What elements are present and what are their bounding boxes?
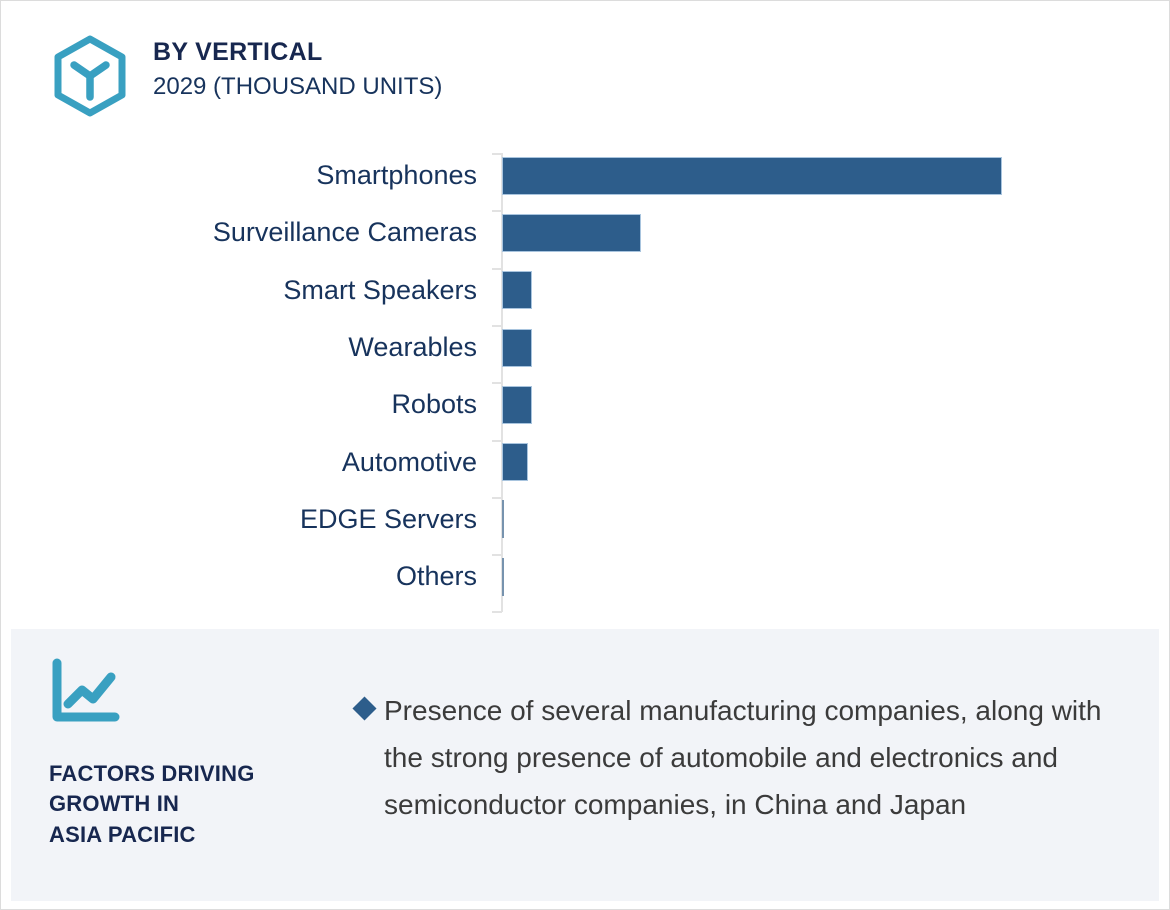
chart-bar[interactable]	[502, 558, 504, 596]
chart-category-label: Smart Speakers	[57, 275, 477, 306]
chart-axis-tick	[492, 554, 502, 556]
chart-bar-fill	[502, 329, 532, 367]
chart-bar-fill	[502, 558, 504, 596]
chart-category-label: Others	[57, 561, 477, 592]
chart-bar[interactable]	[502, 157, 1002, 195]
chart-bar[interactable]	[502, 214, 641, 252]
chart-category-label: Automotive	[57, 447, 477, 478]
chart-axis-tick	[492, 497, 502, 499]
page-subtitle: 2029 (THOUSAND UNITS)	[153, 71, 442, 102]
chart-bar[interactable]	[502, 443, 528, 481]
hexagon-y-icon	[51, 35, 129, 117]
chart-bar-fill	[502, 500, 504, 538]
chart-bar-row: EDGE Servers	[1, 491, 1170, 548]
chart-bar[interactable]	[502, 386, 532, 424]
chart-category-label: Robots	[57, 389, 477, 420]
chart-bar-row: Surveillance Cameras	[1, 204, 1170, 261]
header: BY VERTICAL 2029 (THOUSAND UNITS)	[51, 34, 442, 117]
chart-bar[interactable]	[502, 329, 532, 367]
chart-category-label: Wearables	[57, 332, 477, 363]
factors-block: FACTORS DRIVING GROWTH IN ASIA PACIFIC	[49, 657, 339, 850]
header-text: BY VERTICAL 2029 (THOUSAND UNITS)	[153, 38, 442, 102]
factors-panel: FACTORS DRIVING GROWTH IN ASIA PACIFIC P…	[11, 629, 1159, 901]
chart-axis-tick	[492, 382, 502, 384]
chart-category-label: Surveillance Cameras	[57, 217, 477, 248]
page-title: BY VERTICAL	[153, 38, 442, 67]
factors-heading: FACTORS DRIVING GROWTH IN ASIA PACIFIC	[49, 759, 339, 850]
chart-bar-row: Smart Speakers	[1, 262, 1170, 319]
chart-category-label: EDGE Servers	[57, 504, 477, 535]
chart-axis-tick	[492, 210, 502, 212]
chart-bar-row: Smartphones	[1, 147, 1170, 204]
chart-bar-row: Robots	[1, 376, 1170, 433]
chart-bar-row: Automotive	[1, 433, 1170, 490]
bullet-text: Presence of several manufacturing compan…	[384, 687, 1146, 828]
chart-axis-tick	[492, 268, 502, 270]
chart-bar-row: Others	[1, 548, 1170, 605]
bar-chart: SmartphonesSurveillance CamerasSmart Spe…	[1, 147, 1170, 617]
bullet-list: Presence of several manufacturing compan…	[356, 687, 1146, 828]
bullet-item: Presence of several manufacturing compan…	[356, 687, 1146, 828]
chart-bar[interactable]	[502, 500, 504, 538]
chart-bar-fill	[502, 443, 528, 481]
line-chart-icon	[49, 657, 123, 727]
diamond-bullet-icon	[352, 696, 376, 720]
chart-bar-fill	[502, 271, 532, 309]
chart-rows: SmartphonesSurveillance CamerasSmart Spe…	[1, 147, 1170, 605]
chart-axis-tick	[492, 153, 502, 155]
chart-category-label: Smartphones	[57, 160, 477, 191]
chart-bar-fill	[502, 214, 641, 252]
chart-axis-tick	[492, 611, 502, 613]
chart-bar-fill	[502, 157, 1002, 195]
infographic-canvas: BY VERTICAL 2029 (THOUSAND UNITS) Smartp…	[0, 0, 1170, 910]
chart-bar-row: Wearables	[1, 319, 1170, 376]
chart-axis-tick	[492, 325, 502, 327]
chart-bar-fill	[502, 386, 532, 424]
chart-axis-tick	[492, 440, 502, 442]
chart-bar[interactable]	[502, 271, 532, 309]
